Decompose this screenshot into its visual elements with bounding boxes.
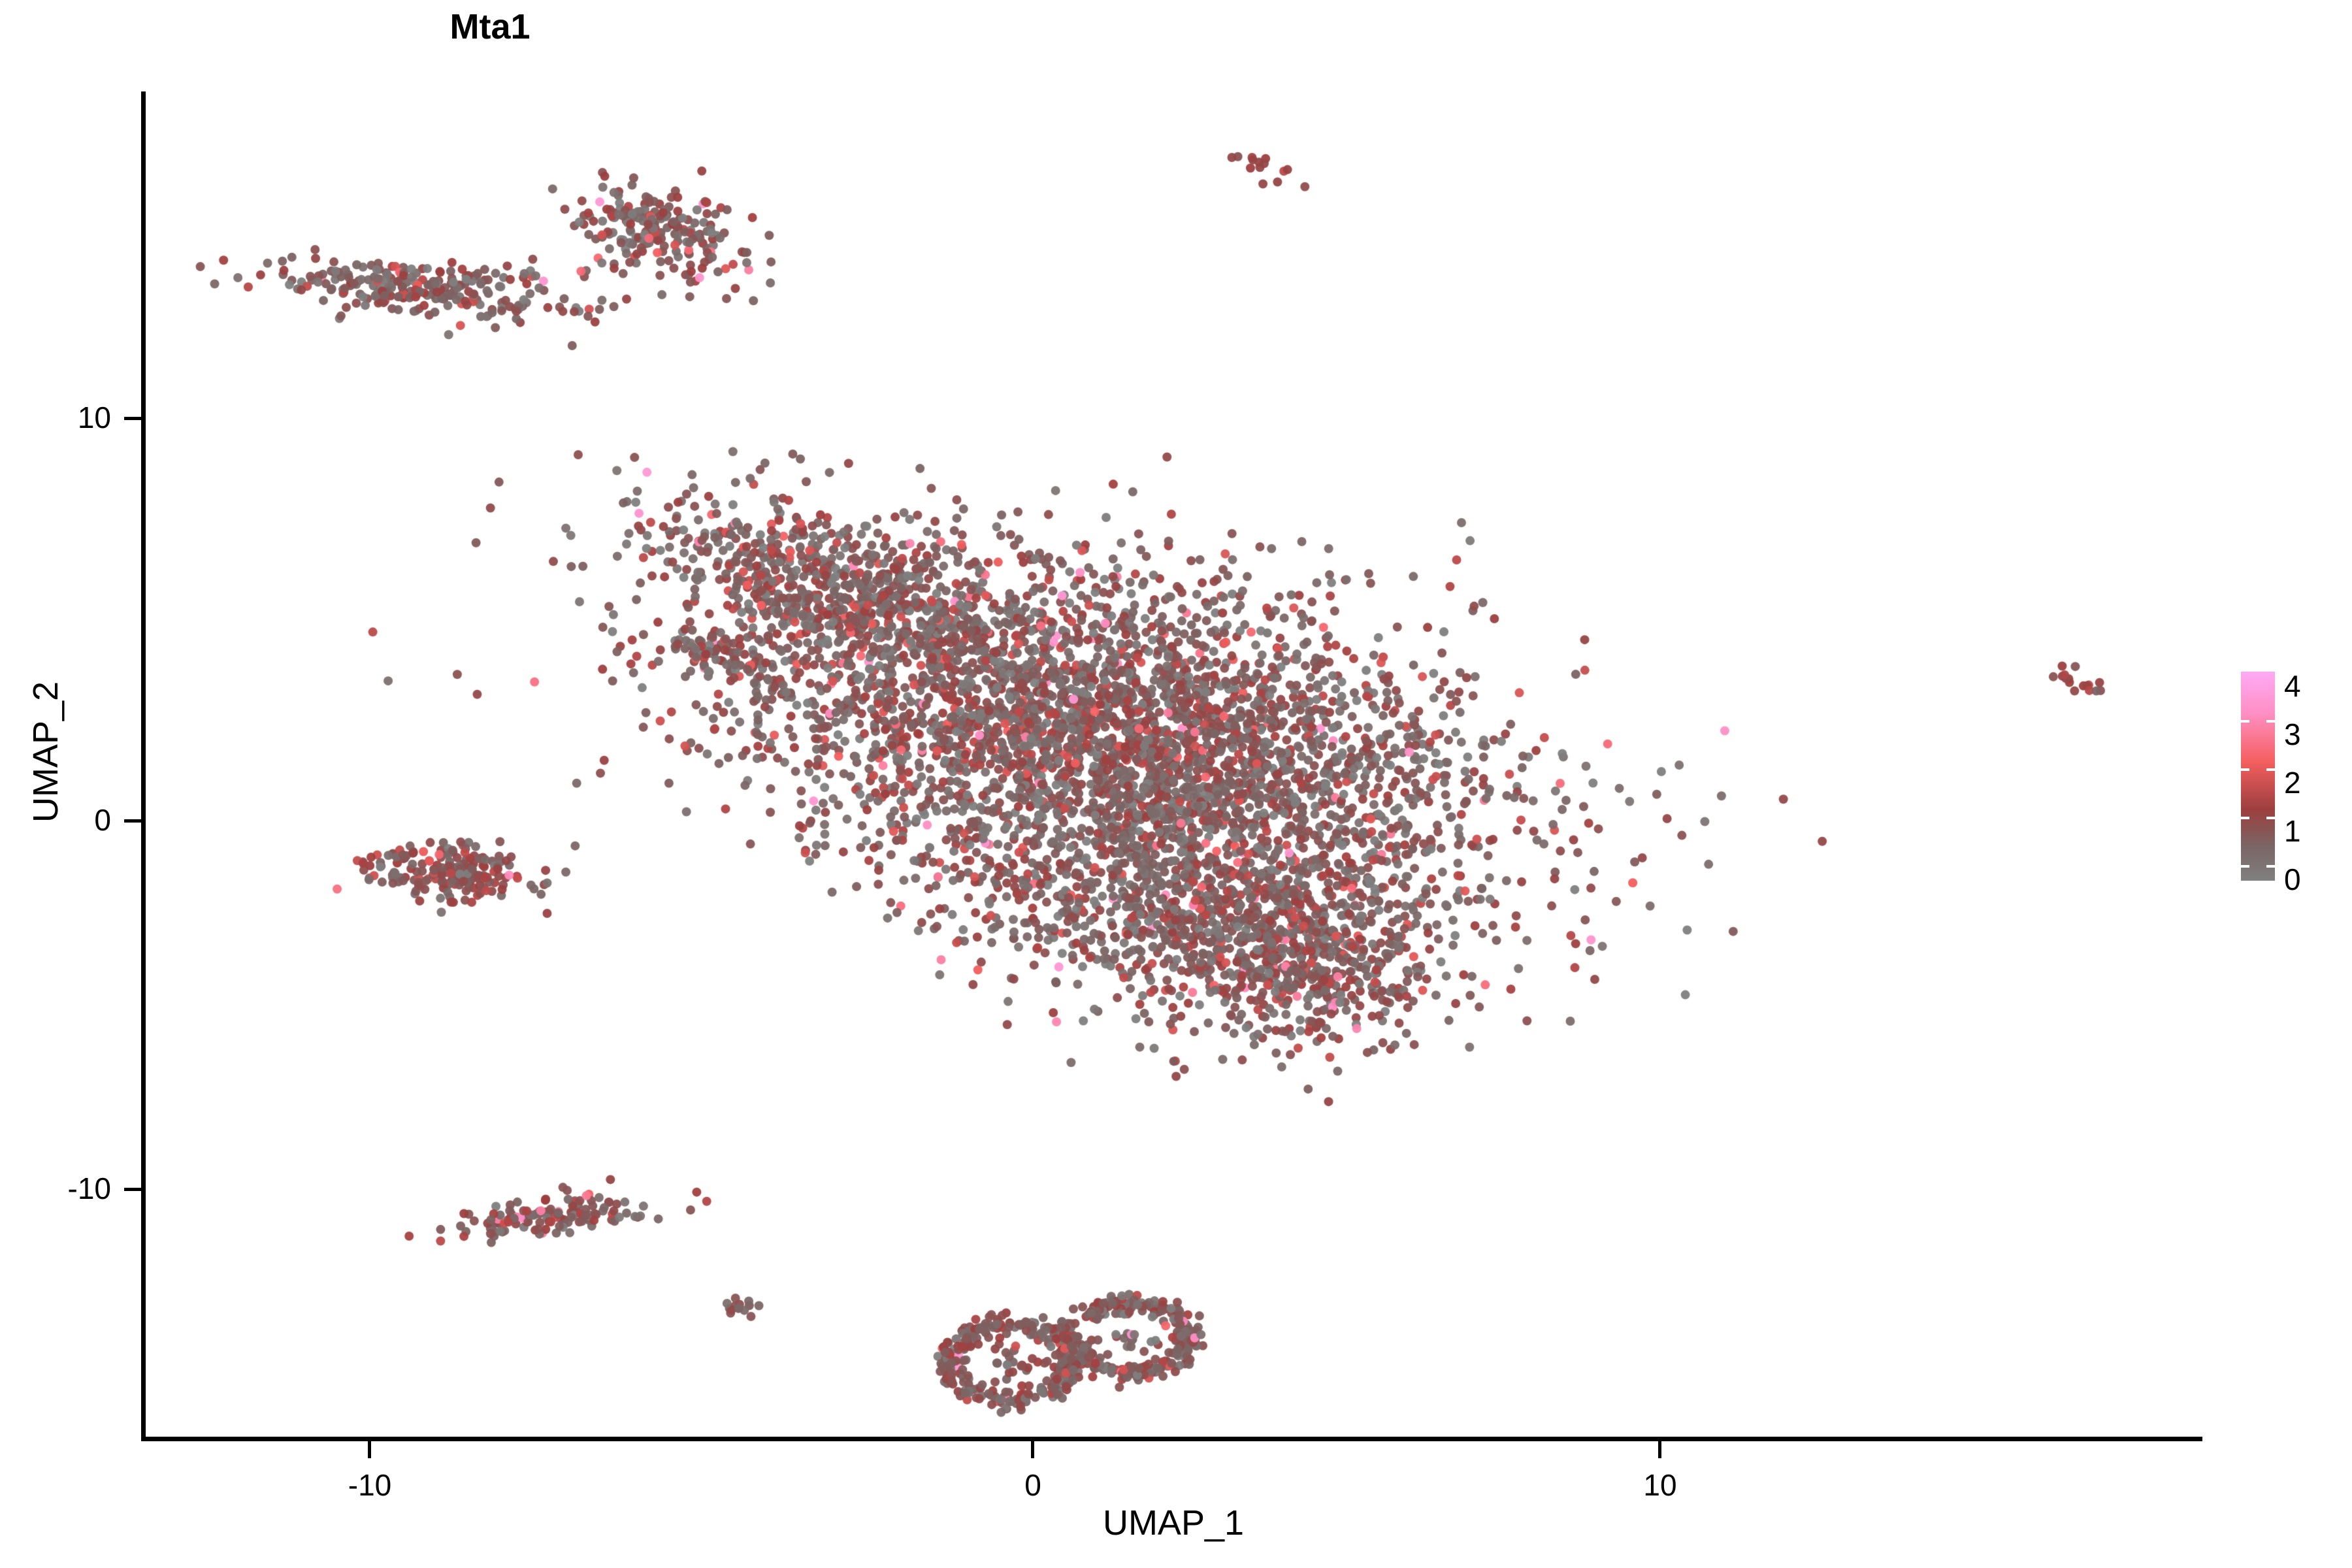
y-axis-line: [141, 91, 146, 1441]
x-tick-label-0: 0: [1024, 1467, 1041, 1503]
colorbar-tick-1-left: [2241, 865, 2249, 868]
colorbar-tick-1-right: [2266, 865, 2275, 868]
y-tick-label-neg10: -10: [13, 1171, 111, 1206]
y-tick-10: [124, 417, 141, 420]
colorbar-tick-4-right: [2266, 720, 2275, 723]
x-axis-title: UMAP_1: [145, 1503, 2202, 1543]
figure-root: Mta1 10 0 -10 -10 0 10 UMAP_2 UMAP_1 4 3…: [0, 0, 2352, 1568]
x-tick-0: [1031, 1441, 1034, 1458]
x-axis-line: [141, 1437, 2202, 1441]
y-tick-neg10: [124, 1188, 141, 1191]
x-tick-label-neg10: -10: [348, 1467, 391, 1503]
colorbar-tick-2-left: [2241, 817, 2249, 819]
x-tick-10: [1658, 1441, 1661, 1458]
page-title: Mta1: [0, 7, 1666, 47]
y-axis-title: UMAP_2: [25, 634, 66, 870]
plot-panel: [145, 91, 2202, 1439]
colorbar-label-3: 3: [2284, 717, 2301, 752]
colorbar-tick-4-left: [2241, 720, 2249, 723]
legend-colorbar: 4 3 2 1 0: [2241, 666, 2339, 895]
x-tick-neg10: [368, 1441, 371, 1458]
colorbar-label-2: 2: [2284, 765, 2301, 800]
x-tick-label-10: 10: [1643, 1467, 1676, 1503]
colorbar-tick-3-right: [2266, 768, 2275, 771]
colorbar-tick-2-right: [2266, 817, 2275, 819]
colorbar-label-0: 0: [2284, 862, 2301, 897]
colorbar-tick-3-left: [2241, 768, 2249, 771]
colorbar-label-1: 1: [2284, 813, 2301, 849]
scatter-points-layer: [145, 91, 2202, 1439]
y-tick-0: [124, 819, 141, 823]
colorbar-label-4: 4: [2284, 668, 2301, 704]
y-tick-label-10: 10: [39, 400, 111, 435]
colorbar-gradient: [2241, 672, 2275, 881]
